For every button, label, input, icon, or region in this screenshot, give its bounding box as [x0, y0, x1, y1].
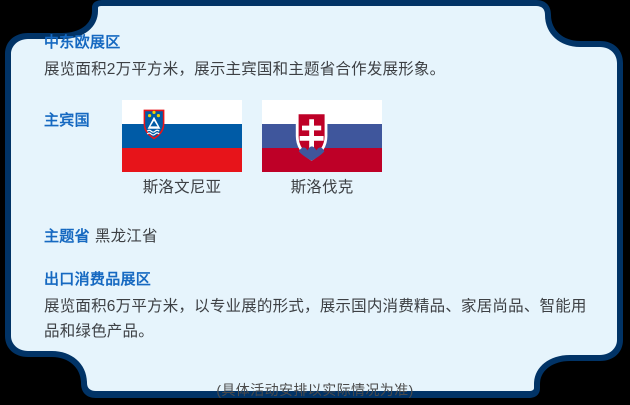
theme-province-value: 黑龙江省 [95, 224, 158, 246]
ceec-heading: 中东欧展区 [44, 33, 589, 53]
slovakia-flag-caption: 斯洛伐克 [262, 179, 382, 197]
slovenia-flag-caption: 斯洛文尼亚 [122, 179, 242, 197]
flag-item-slovenia: 斯洛文尼亚 [122, 100, 242, 197]
section-ceec: 中东欧展区 展览面积2万平方米，展示主宾国和主题省合作发展形象。 [44, 33, 589, 82]
section-theme-province: 主题省 黑龙江省 [44, 224, 158, 246]
page-root: 中东欧展区 展览面积2万平方米，展示主宾国和主题省合作发展形象。 主宾国 [0, 0, 630, 405]
slovakia-flag-icon [262, 100, 382, 172]
export-heading: 出口消费品展区 [44, 270, 592, 290]
export-body: 展览面积6万平方米，以专业展的形式，展示国内消费精品、家居尚品、智能用品和绿色产… [44, 294, 592, 344]
slovenia-flag-icon [122, 100, 242, 172]
section-guest-countries: 主宾国 [44, 100, 589, 195]
theme-province-label: 主题省 [44, 225, 90, 246]
footer-note: (具体活动安排以实际情况为准) [0, 381, 630, 399]
ceec-body: 展览面积2万平方米，展示主宾国和主题省合作发展形象。 [44, 57, 589, 82]
flag-item-slovakia: 斯洛伐克 [262, 100, 382, 197]
section-export-consumer-goods: 出口消费品展区 展览面积6万平方米，以专业展的形式，展示国内消费精品、家居尚品、… [44, 270, 592, 344]
guest-countries-label: 主宾国 [44, 109, 90, 130]
card-content: 中东欧展区 展览面积2万平方米，展示主宾国和主题省合作发展形象。 主宾国 [0, 0, 630, 405]
